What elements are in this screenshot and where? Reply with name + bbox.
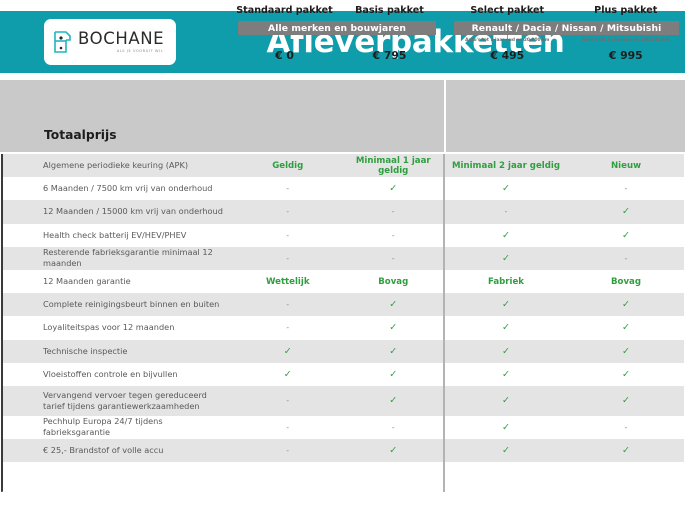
row-label: Algemene periodieke keuring (APK) <box>3 160 235 171</box>
cell-r2-c1: - <box>341 207 447 216</box>
cell-r8-c1: ✓ <box>341 346 447 357</box>
cell-r10-c0: - <box>235 396 341 405</box>
cell-r11-c3: - <box>566 423 685 432</box>
row-label: Health check batterij EV/HEV/PHEV <box>3 230 235 241</box>
logo-tagline: ALS JE VOORUIT WIL <box>117 50 163 54</box>
cell-r8-c2: ✓ <box>446 346 566 357</box>
column-title-select: Select pakket <box>448 5 567 16</box>
bochane-logo-mark-icon <box>53 30 73 54</box>
cell-r3-c3: ✓ <box>566 230 685 241</box>
cell-r4-c0: - <box>235 254 341 263</box>
cell-r5-c2: Fabriek <box>446 277 566 287</box>
group-left-prices: € 0 € 795 <box>232 49 442 62</box>
cell-r10-c3: ✓ <box>566 395 685 406</box>
cell-r7-c3: ✓ <box>566 322 685 333</box>
table-bottom-spacer <box>3 462 684 498</box>
cell-r11-c1: - <box>341 423 447 432</box>
cell-r3-c1: - <box>341 231 447 240</box>
cell-r11-c2: ✓ <box>446 422 566 433</box>
table-row: Algemene periodieke keuring (APK)GeldigM… <box>3 154 684 177</box>
cell-r3-c0: - <box>235 231 341 240</box>
table-row: Vloeistoffen controle en bijvullen✓✓✓✓ <box>3 363 684 386</box>
table-row: Complete reinigingsbeurt binnen en buite… <box>3 293 684 316</box>
row-label: 12 Maanden / 15000 km vrij van onderhoud <box>3 206 235 217</box>
cell-r5-c3: Bovag <box>566 277 685 287</box>
table-row: € 25,- Brandstof of volle accu-✓✓✓ <box>3 439 684 462</box>
row-label: € 25,- Brandstof of volle accu <box>3 445 235 456</box>
group-right-column-titles: Select pakket Plus pakket <box>448 5 685 16</box>
price-basis: € 795 <box>337 49 442 62</box>
cell-r7-c2: ✓ <box>446 322 566 333</box>
cell-r0-c0: Geldig <box>235 161 341 171</box>
table-group-divider <box>443 154 445 492</box>
row-label: 12 Maanden garantie <box>3 276 235 287</box>
table-row: 6 Maanden / 7500 km vrij van onderhoud-✓… <box>3 177 684 200</box>
cell-r7-c1: ✓ <box>341 322 447 333</box>
cell-r0-c1: Minimaal 1 jaar geldig <box>341 156 447 176</box>
cell-r9-c1: ✓ <box>341 369 447 380</box>
column-title-standaard: Standaard pakket <box>232 5 337 16</box>
cell-r0-c3: Nieuw <box>566 161 685 171</box>
table-row: Loyaliteitspas voor 12 maanden-✓✓✓ <box>3 316 684 339</box>
column-title-basis: Basis pakket <box>337 5 442 16</box>
row-label: Complete reinigingsbeurt binnen en buite… <box>3 299 235 310</box>
column-note-plus: Auto's tot 5 jaar oud en 100.000 km <box>567 38 685 43</box>
header-group-divider <box>444 80 446 152</box>
cell-r4-c3: - <box>566 254 685 263</box>
bochane-logo[interactable]: BOCHANE ALS JE VOORUIT WIL <box>44 19 176 65</box>
totaalprijs-label: Totaalprijs <box>44 128 117 142</box>
group-right-notes: Auto's tot 1 jaar oud en 20.000 km Auto'… <box>448 38 685 43</box>
package-group-left: Standaard pakket Basis pakket Alle merke… <box>232 0 442 72</box>
row-label: Resterende fabrieksgarantie minimaal 12 … <box>3 247 235 269</box>
cell-r6-c2: ✓ <box>446 299 566 310</box>
column-title-plus: Plus pakket <box>567 5 685 16</box>
package-group-right: Select pakket Plus pakket Renault / Daci… <box>448 0 685 72</box>
row-label: Vervangend vervoer tegen gereduceerd tar… <box>3 390 235 412</box>
group-right-prices: € 495 € 995 <box>448 49 685 62</box>
cell-r6-c1: ✓ <box>341 299 447 310</box>
cell-r1-c1: ✓ <box>341 183 447 194</box>
cell-r6-c3: ✓ <box>566 299 685 310</box>
group-left-column-titles: Standaard pakket Basis pakket <box>232 5 442 16</box>
cell-r2-c2: - <box>446 207 566 216</box>
table-row: Pechhulp Europa 24/7 tijdens fabrieksgar… <box>3 416 684 439</box>
table-row: Vervangend vervoer tegen gereduceerd tar… <box>3 386 684 416</box>
cell-r0-c2: Minimaal 2 jaar geldig <box>446 161 566 171</box>
table-row: 12 Maanden garantieWettelijkBovagFabriek… <box>3 270 684 293</box>
table-row: Technische inspectie✓✓✓✓ <box>3 340 684 363</box>
cell-r9-c3: ✓ <box>566 369 685 380</box>
cell-r12-c2: ✓ <box>446 445 566 456</box>
cell-r6-c0: - <box>235 300 341 309</box>
row-label: Technische inspectie <box>3 346 235 357</box>
cell-r2-c3: ✓ <box>566 206 685 217</box>
logo-wordmark: BOCHANE <box>78 31 164 48</box>
cell-r10-c2: ✓ <box>446 395 566 406</box>
price-select: € 495 <box>448 49 567 62</box>
cell-r12-c1: ✓ <box>341 445 447 456</box>
price-plus: € 995 <box>567 49 685 62</box>
cell-r11-c0: - <box>235 423 341 432</box>
price-standaard: € 0 <box>232 49 337 62</box>
cell-r12-c3: ✓ <box>566 445 685 456</box>
cell-r12-c0: - <box>235 446 341 455</box>
brandbar-right: Renault / Dacia / Nissan / Mitsubishi <box>454 21 679 35</box>
logo-text: BOCHANE ALS JE VOORUIT WIL <box>78 31 164 54</box>
cell-r9-c2: ✓ <box>446 369 566 380</box>
cell-r5-c1: Bovag <box>341 277 447 287</box>
row-label: 6 Maanden / 7500 km vrij van onderhoud <box>3 183 235 194</box>
brandbar-left: Alle merken en bouwjaren <box>238 21 436 35</box>
row-label: Vloeistoffen controle en bijvullen <box>3 369 235 380</box>
cell-r9-c0: ✓ <box>235 369 341 380</box>
cell-r1-c0: - <box>235 184 341 193</box>
table-row: 12 Maanden / 15000 km vrij van onderhoud… <box>3 200 684 223</box>
row-label: Loyaliteitspas voor 12 maanden <box>3 322 235 333</box>
row-label: Pechhulp Europa 24/7 tijdens fabrieksgar… <box>3 416 235 438</box>
cell-r4-c1: - <box>341 254 447 263</box>
cell-r2-c0: - <box>235 207 341 216</box>
cell-r5-c0: Wettelijk <box>235 277 341 287</box>
cell-r3-c2: ✓ <box>446 230 566 241</box>
table-row: Resterende fabrieksgarantie minimaal 12 … <box>3 247 684 270</box>
cell-r1-c3: - <box>566 184 685 193</box>
column-note-select: Auto's tot 1 jaar oud en 20.000 km <box>448 38 567 43</box>
cell-r8-c0: ✓ <box>235 346 341 357</box>
cell-r8-c3: ✓ <box>566 346 685 357</box>
features-table: Algemene periodieke keuring (APK)GeldigM… <box>1 154 684 492</box>
cell-r10-c1: ✓ <box>341 395 447 406</box>
cell-r7-c0: - <box>235 323 341 332</box>
cell-r4-c2: ✓ <box>446 253 566 264</box>
table-row: Health check batterij EV/HEV/PHEV--✓✓ <box>3 224 684 247</box>
cell-r1-c2: ✓ <box>446 183 566 194</box>
